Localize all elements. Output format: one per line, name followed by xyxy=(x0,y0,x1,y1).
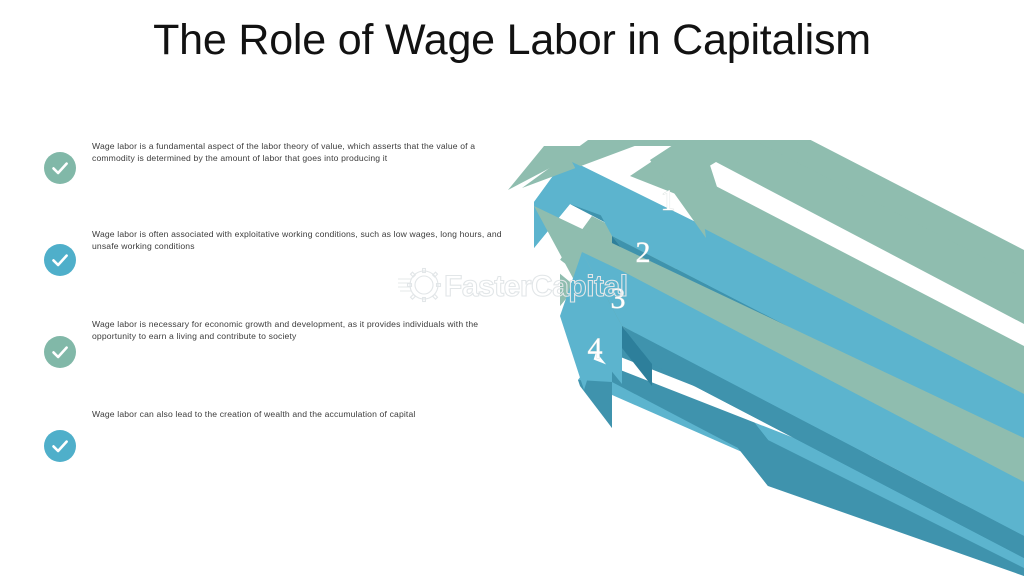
bullet-list: Wage labor is a fundamental aspect of th… xyxy=(0,0,540,576)
check-icon xyxy=(44,336,76,368)
list-item-text: Wage labor is often associated with expl… xyxy=(92,228,506,252)
band-number-4: 4 xyxy=(588,332,603,365)
band-number-2: 2 xyxy=(636,236,651,269)
check-icon xyxy=(44,152,76,184)
band-number-1: 1 xyxy=(661,184,676,217)
list-item-text: Wage labor can also lead to the creation… xyxy=(92,408,506,420)
list-item-text: Wage labor is a fundamental aspect of th… xyxy=(92,140,506,164)
check-icon xyxy=(44,244,76,276)
list-item-text: Wage labor is necessary for economic gro… xyxy=(92,318,506,342)
arrow-ribbon-diagram: 1 2 3 4 xyxy=(500,140,1024,576)
band-number-3: 3 xyxy=(611,282,626,315)
slide-canvas: The Role of Wage Labor in Capitalism Wag… xyxy=(0,0,1024,576)
check-icon xyxy=(44,430,76,462)
